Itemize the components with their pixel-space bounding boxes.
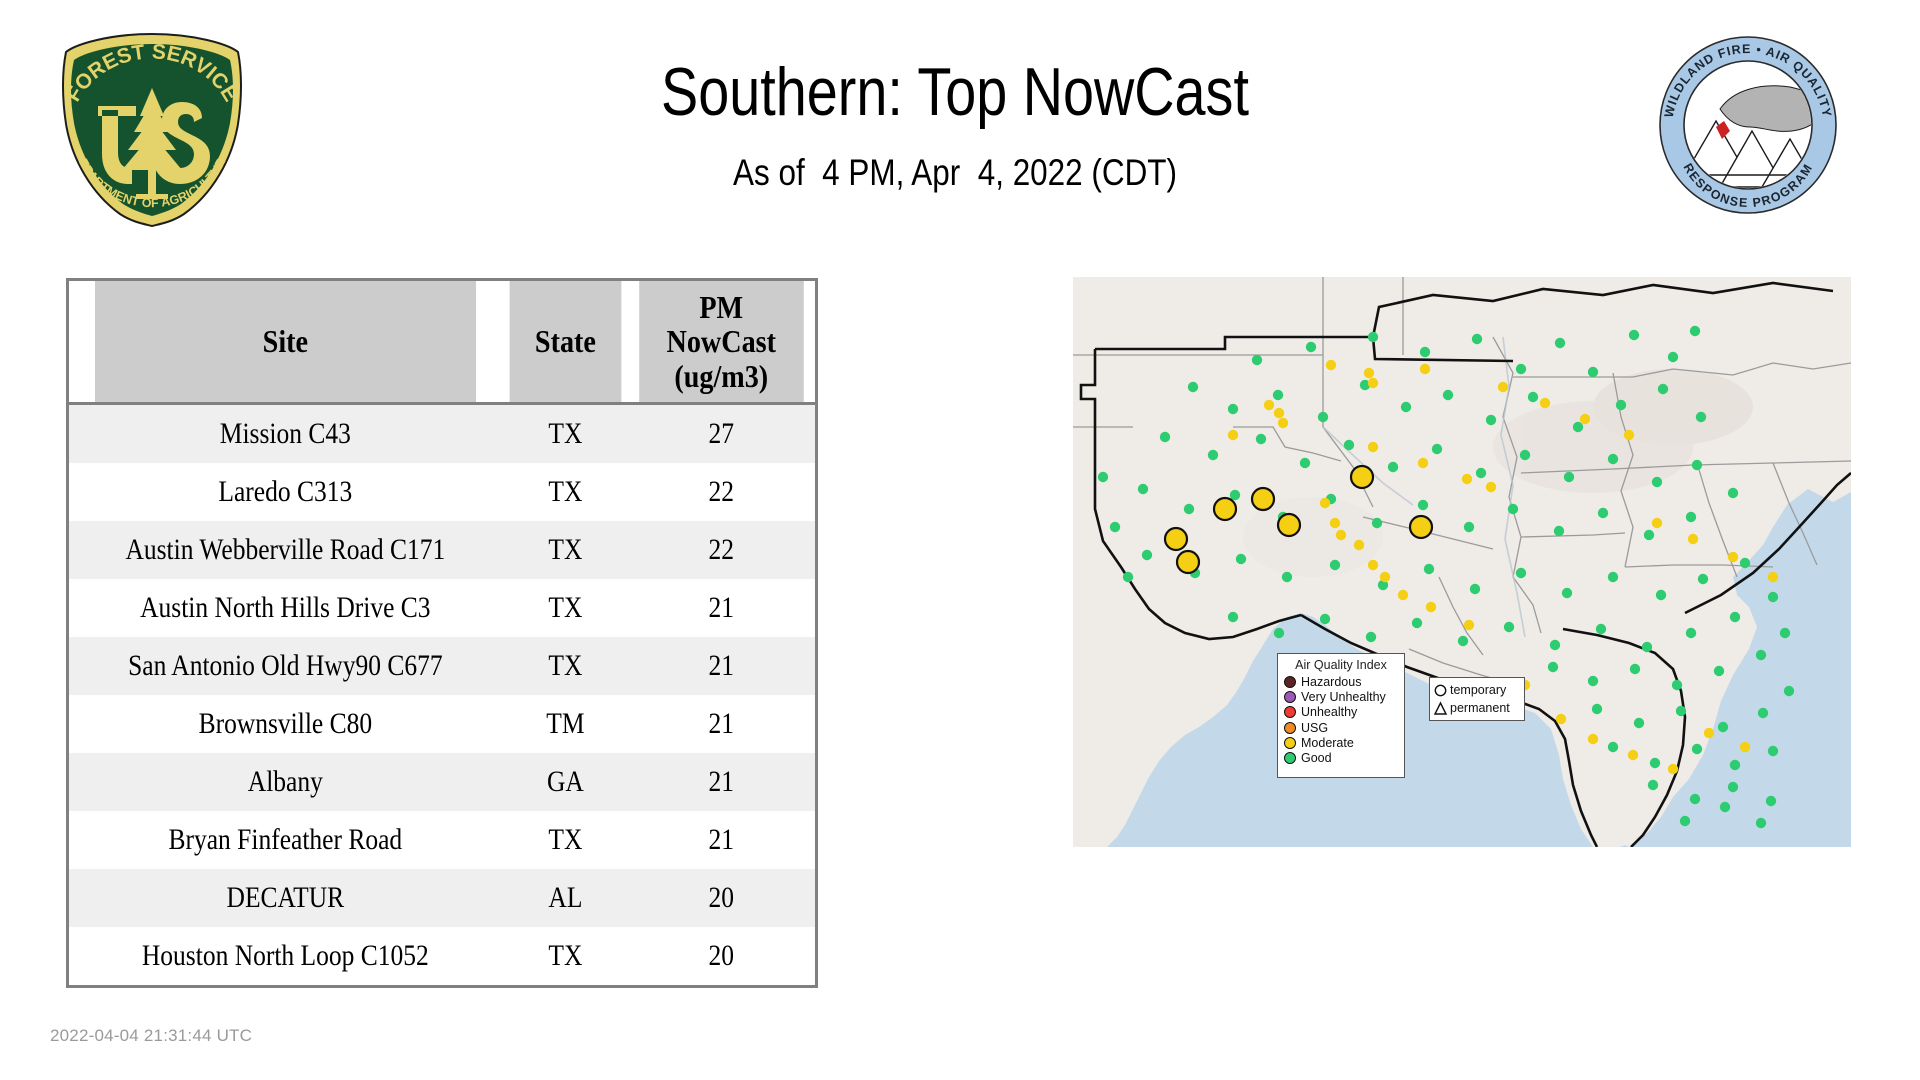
cell-state: TX: [502, 404, 629, 464]
monitor-marker-good[interactable]: [1768, 592, 1778, 602]
monitor-marker-good[interactable]: [1718, 722, 1728, 732]
monitor-marker-moderate[interactable]: [1704, 728, 1714, 738]
monitor-marker-good[interactable]: [1598, 508, 1608, 518]
monitor-marker-good[interactable]: [1652, 477, 1662, 487]
monitor-marker-good[interactable]: [1388, 462, 1398, 472]
monitor-marker-good[interactable]: [1420, 347, 1430, 357]
monitor-marker-top-site[interactable]: [1252, 488, 1274, 510]
monitor-marker-good[interactable]: [1573, 422, 1583, 432]
cell-state: TX: [502, 637, 629, 695]
table-row[interactable]: Houston North Loop C1052 TX 20: [69, 927, 815, 985]
monitor-marker-good[interactable]: [1784, 686, 1794, 696]
monitor-marker-good[interactable]: [1282, 572, 1292, 582]
aqi-map[interactable]: Air Quality Index Hazardous Very Unhealt…: [1073, 277, 1851, 847]
monitor-marker-good[interactable]: [1562, 588, 1572, 598]
monitor-marker-good[interactable]: [1516, 568, 1526, 578]
monitor-marker-moderate[interactable]: [1688, 534, 1698, 544]
monitor-marker-good[interactable]: [1758, 708, 1768, 718]
page-header: FOREST SERVICE DEPARTMENT OF AGRICULTURE…: [0, 0, 1920, 230]
monitor-marker-good[interactable]: [1188, 382, 1198, 392]
monitor-marker-good[interactable]: [1476, 468, 1486, 478]
table-row[interactable]: Laredo C313 TX 22: [69, 463, 815, 521]
usg-swatch-icon: [1284, 722, 1296, 734]
monitor-marker-good[interactable]: [1320, 614, 1330, 624]
cell-site: Austin Webberville Road C171: [69, 521, 502, 579]
cell-site: Laredo C313: [69, 463, 502, 521]
cell-pm: 22: [628, 521, 815, 579]
monitor-marker-good[interactable]: [1730, 760, 1740, 770]
monitor-marker-good[interactable]: [1648, 780, 1658, 790]
monitor-marker-good[interactable]: [1424, 564, 1434, 574]
monitor-marker-good[interactable]: [1720, 802, 1730, 812]
monitor-marker-moderate[interactable]: [1368, 378, 1378, 388]
monitor-marker-good[interactable]: [1690, 794, 1700, 804]
monitor-marker-good[interactable]: [1273, 390, 1283, 400]
monitor-marker-good[interactable]: [1344, 440, 1354, 450]
cell-pm: 21: [628, 579, 815, 637]
monitor-marker-good[interactable]: [1629, 330, 1639, 340]
cell-pm: 20: [628, 927, 815, 985]
monitor-marker-good[interactable]: [1642, 642, 1652, 652]
monitor-marker-good[interactable]: [1658, 384, 1668, 394]
monitor-marker-good[interactable]: [1464, 522, 1474, 532]
monitor-marker-good[interactable]: [1418, 500, 1428, 510]
cell-state: TX: [502, 463, 629, 521]
monitor-marker-good[interactable]: [1588, 367, 1598, 377]
monitor-marker-good[interactable]: [1300, 458, 1310, 468]
legend-label-very-unhealthy: Very Unhealthy: [1301, 690, 1386, 704]
cell-pm: 22: [628, 463, 815, 521]
cell-state: TX: [502, 521, 629, 579]
monitor-marker-good[interactable]: [1756, 650, 1766, 660]
circle-outline-icon: [1434, 683, 1447, 698]
legend-item-moderate: Moderate: [1284, 735, 1398, 750]
monitor-marker-moderate[interactable]: [1426, 602, 1436, 612]
monitor-marker-good[interactable]: [1596, 624, 1606, 634]
monitor-marker-top-site[interactable]: [1165, 528, 1187, 550]
monitor-marker-good[interactable]: [1668, 352, 1678, 362]
monitor-marker-good[interactable]: [1692, 460, 1702, 470]
legend-item-permanent: permanent: [1434, 699, 1520, 717]
monitor-marker-good[interactable]: [1672, 680, 1682, 690]
cell-site: San Antonio Old Hwy90 C677: [69, 637, 502, 695]
monitor-marker-good[interactable]: [1274, 628, 1284, 638]
monitor-marker-top-site[interactable]: [1351, 466, 1373, 488]
page-subtitle: As of 4 PM, Apr 4, 2022 (CDT): [364, 152, 1546, 194]
monitor-marker-good[interactable]: [1486, 415, 1496, 425]
monitor-marker-moderate[interactable]: [1368, 560, 1378, 570]
monitor-marker-good[interactable]: [1650, 758, 1660, 768]
cell-state: TX: [502, 579, 629, 637]
monitor-marker-good[interactable]: [1504, 622, 1514, 632]
legend-label-temporary: temporary: [1450, 683, 1506, 697]
monitor-marker-moderate[interactable]: [1728, 552, 1738, 562]
monitor-marker-moderate[interactable]: [1588, 734, 1598, 744]
monitor-marker-moderate[interactable]: [1380, 572, 1390, 582]
monitor-marker-good[interactable]: [1698, 574, 1708, 584]
legend-item-unhealthy: Unhealthy: [1284, 705, 1398, 720]
cell-pm: 21: [628, 753, 815, 811]
monitor-marker-moderate[interactable]: [1330, 518, 1340, 528]
monitor-marker-moderate[interactable]: [1228, 430, 1238, 440]
monitor-marker-moderate[interactable]: [1740, 742, 1750, 752]
title-block: Southern: Top NowCast As of 4 PM, Apr 4,…: [260, 40, 1650, 194]
monitor-marker-good[interactable]: [1550, 640, 1560, 650]
map-monitor-markers[interactable]: [1073, 277, 1851, 847]
column-header-pm-line3: (ug/m3): [640, 359, 804, 394]
monitor-marker-good[interactable]: [1306, 342, 1316, 352]
table-row[interactable]: Austin North Hills Drive C3 TX 21: [69, 579, 815, 637]
monitor-marker-moderate[interactable]: [1368, 442, 1378, 452]
legend-item-hazardous: Hazardous: [1284, 674, 1398, 689]
cell-pm: 20: [628, 869, 815, 927]
top-nowcast-table-container: Site State PM NowCast (ug/m3) Mission C4…: [66, 278, 818, 988]
cell-state: TX: [502, 811, 629, 869]
monitor-marker-moderate[interactable]: [1462, 474, 1472, 484]
very-unhealthy-swatch-icon: [1284, 691, 1296, 703]
legend-label-permanent: permanent: [1450, 701, 1510, 715]
table-body: Mission C43 TX 27 Laredo C313 TX 22 Aust…: [69, 404, 815, 986]
cell-pm: 21: [628, 695, 815, 753]
cell-pm: 21: [628, 811, 815, 869]
monitor-marker-good[interactable]: [1160, 432, 1170, 442]
cell-site: Bryan Finfeather Road: [69, 811, 502, 869]
wfaqrp-logo: WILDLAND FIRE • AIR QUALITY RESPONSE PRO…: [1658, 35, 1838, 215]
generated-timestamp: 2022-04-04 21:31:44 UTC: [50, 1026, 252, 1046]
monitor-marker-good[interactable]: [1412, 618, 1422, 628]
monitor-marker-good[interactable]: [1554, 526, 1564, 536]
monitor-marker-good[interactable]: [1768, 746, 1778, 756]
cell-state: GA: [502, 753, 629, 811]
monitor-marker-good[interactable]: [1208, 450, 1218, 460]
monitor-marker-good[interactable]: [1780, 628, 1790, 638]
monitor-marker-good[interactable]: [1630, 664, 1640, 674]
legend-label-hazardous: Hazardous: [1301, 675, 1361, 689]
page-title: Southern: Top NowCast: [385, 58, 1525, 126]
legend-label-usg: USG: [1301, 721, 1328, 735]
monitor-marker-moderate[interactable]: [1364, 368, 1374, 378]
monitor-marker-top-site[interactable]: [1410, 516, 1432, 538]
monitor-marker-good[interactable]: [1470, 584, 1480, 594]
table-row[interactable]: San Antonio Old Hwy90 C677 TX 21: [69, 637, 815, 695]
monitor-marker-good[interactable]: [1184, 504, 1194, 514]
triangle-outline-icon: [1434, 701, 1447, 716]
usfs-shield-logo: FOREST SERVICE DEPARTMENT OF AGRICULTURE: [52, 28, 252, 228]
monitor-marker-good[interactable]: [1588, 676, 1598, 686]
monitor-marker-good[interactable]: [1564, 472, 1574, 482]
column-header-pm-line1: PM: [640, 290, 804, 325]
monitor-marker-good[interactable]: [1230, 490, 1240, 500]
legend-item-temporary: temporary: [1434, 681, 1520, 699]
hazardous-swatch-icon: [1284, 676, 1296, 688]
column-header-pm-line2: NowCast: [640, 324, 804, 359]
table-row[interactable]: DECATUR AL 20: [69, 869, 815, 927]
monitor-marker-good[interactable]: [1616, 400, 1626, 410]
cell-site: DECATUR: [69, 869, 502, 927]
monitor-marker-good[interactable]: [1548, 662, 1558, 672]
legend-label-good: Good: [1301, 751, 1332, 765]
cell-site: Brownsville C80: [69, 695, 502, 753]
monitor-marker-good[interactable]: [1098, 472, 1108, 482]
monitor-marker-good[interactable]: [1123, 572, 1133, 582]
monitor-type-legend: temporary permanent: [1429, 677, 1525, 721]
monitor-marker-moderate[interactable]: [1320, 498, 1330, 508]
monitor-marker-good[interactable]: [1528, 392, 1538, 402]
cell-pm: 21: [628, 637, 815, 695]
monitor-marker-good[interactable]: [1608, 572, 1618, 582]
monitor-marker-moderate[interactable]: [1768, 572, 1778, 582]
table-row[interactable]: Austin Webberville Road C171 TX 22: [69, 521, 815, 579]
monitor-marker-good[interactable]: [1228, 404, 1238, 414]
table-row[interactable]: Albany GA 21: [69, 753, 815, 811]
monitor-marker-good[interactable]: [1728, 488, 1738, 498]
monitor-marker-moderate[interactable]: [1278, 418, 1288, 428]
monitor-marker-good[interactable]: [1472, 334, 1482, 344]
monitor-marker-moderate[interactable]: [1624, 430, 1634, 440]
cell-site: Albany: [69, 753, 502, 811]
moderate-swatch-icon: [1284, 737, 1296, 749]
table-row[interactable]: Brownsville C80 TM 21: [69, 695, 815, 753]
monitor-marker-good[interactable]: [1228, 612, 1238, 622]
table-header-row: Site State PM NowCast (ug/m3): [69, 281, 815, 404]
column-header-site: Site: [95, 281, 476, 404]
legend-item-usg: USG: [1284, 720, 1398, 735]
cell-state: AL: [502, 869, 629, 927]
column-header-state: State: [509, 281, 621, 404]
column-header-site-label: Site: [263, 323, 308, 359]
monitor-marker-good[interactable]: [1766, 796, 1776, 806]
monitor-marker-good[interactable]: [1730, 612, 1740, 622]
monitor-marker-moderate[interactable]: [1354, 540, 1364, 550]
monitor-marker-good[interactable]: [1401, 402, 1411, 412]
monitor-marker-good[interactable]: [1686, 628, 1696, 638]
monitor-marker-good[interactable]: [1516, 364, 1526, 374]
cell-site: Austin North Hills Drive C3: [69, 579, 502, 637]
good-swatch-icon: [1284, 752, 1296, 764]
monitor-marker-top-site[interactable]: [1177, 551, 1199, 573]
monitor-marker-moderate[interactable]: [1652, 518, 1662, 528]
monitor-marker-moderate[interactable]: [1418, 458, 1428, 468]
monitor-marker-good[interactable]: [1443, 390, 1453, 400]
monitor-marker-good[interactable]: [1740, 558, 1750, 568]
legend-label-moderate: Moderate: [1301, 736, 1354, 750]
monitor-marker-moderate[interactable]: [1336, 530, 1346, 540]
monitor-marker-moderate[interactable]: [1498, 382, 1508, 392]
monitor-marker-good[interactable]: [1138, 484, 1148, 494]
monitor-marker-good[interactable]: [1330, 560, 1340, 570]
monitor-marker-moderate[interactable]: [1274, 408, 1284, 418]
monitor-marker-good[interactable]: [1592, 704, 1602, 714]
monitor-marker-good[interactable]: [1692, 744, 1702, 754]
monitor-marker-top-site[interactable]: [1278, 514, 1300, 536]
monitor-marker-good[interactable]: [1368, 332, 1378, 342]
table-row[interactable]: Mission C43 TX 27: [69, 404, 815, 464]
monitor-marker-good[interactable]: [1686, 512, 1696, 522]
monitor-marker-moderate[interactable]: [1580, 414, 1590, 424]
monitor-marker-good[interactable]: [1680, 816, 1690, 826]
monitor-marker-good[interactable]: [1142, 550, 1152, 560]
monitor-marker-good[interactable]: [1252, 355, 1262, 365]
monitor-marker-good[interactable]: [1608, 742, 1618, 752]
monitor-marker-good[interactable]: [1756, 818, 1766, 828]
top-nowcast-table: Site State PM NowCast (ug/m3) Mission C4…: [69, 281, 815, 985]
monitor-marker-moderate[interactable]: [1556, 714, 1566, 724]
monitor-marker-moderate[interactable]: [1398, 590, 1408, 600]
monitor-marker-moderate[interactable]: [1326, 360, 1336, 370]
monitor-marker-good[interactable]: [1256, 434, 1266, 444]
monitor-marker-good[interactable]: [1508, 504, 1518, 514]
cell-state: TX: [502, 927, 629, 985]
monitor-marker-good[interactable]: [1728, 782, 1738, 792]
monitor-marker-good[interactable]: [1676, 706, 1686, 716]
cell-site: Houston North Loop C1052: [69, 927, 502, 985]
monitor-marker-moderate[interactable]: [1264, 400, 1274, 410]
monitor-marker-good[interactable]: [1690, 326, 1700, 336]
monitor-marker-moderate[interactable]: [1540, 398, 1550, 408]
monitor-marker-good[interactable]: [1520, 450, 1530, 460]
monitor-marker-good[interactable]: [1236, 554, 1246, 564]
monitor-marker-good[interactable]: [1608, 454, 1618, 464]
cell-state: TM: [502, 695, 629, 753]
monitor-marker-top-site[interactable]: [1214, 498, 1236, 520]
monitor-marker-moderate[interactable]: [1628, 750, 1638, 760]
monitor-marker-good[interactable]: [1366, 632, 1376, 642]
monitor-marker-good[interactable]: [1634, 718, 1644, 728]
table-row[interactable]: Bryan Finfeather Road TX 21: [69, 811, 815, 869]
monitor-marker-good[interactable]: [1318, 412, 1328, 422]
monitor-marker-good[interactable]: [1555, 338, 1565, 348]
unhealthy-swatch-icon: [1284, 706, 1296, 718]
monitor-marker-good[interactable]: [1714, 666, 1724, 676]
monitor-marker-good[interactable]: [1432, 444, 1442, 454]
legend-label-unhealthy: Unhealthy: [1301, 705, 1357, 719]
table-head: Site State PM NowCast (ug/m3): [69, 281, 815, 404]
aqi-legend-title: Air Quality Index: [1284, 658, 1398, 672]
monitor-marker-good[interactable]: [1372, 518, 1382, 528]
monitor-marker-good[interactable]: [1696, 412, 1706, 422]
monitor-marker-good[interactable]: [1458, 636, 1468, 646]
column-header-pm-nowcast: PM NowCast (ug/m3): [640, 281, 804, 404]
legend-item-very-unhealthy: Very Unhealthy: [1284, 689, 1398, 704]
cell-site: Mission C43: [69, 404, 502, 464]
aqi-legend: Air Quality Index Hazardous Very Unhealt…: [1277, 653, 1405, 778]
monitor-marker-good[interactable]: [1644, 530, 1654, 540]
monitor-marker-good[interactable]: [1110, 522, 1120, 532]
monitor-marker-moderate[interactable]: [1668, 764, 1678, 774]
monitor-marker-moderate[interactable]: [1486, 482, 1496, 492]
monitor-marker-good[interactable]: [1656, 590, 1666, 600]
monitor-marker-moderate[interactable]: [1464, 620, 1474, 630]
cell-pm: 27: [628, 404, 815, 464]
legend-item-good: Good: [1284, 750, 1398, 765]
column-header-state-label: State: [535, 323, 596, 359]
monitor-marker-moderate[interactable]: [1420, 364, 1430, 374]
